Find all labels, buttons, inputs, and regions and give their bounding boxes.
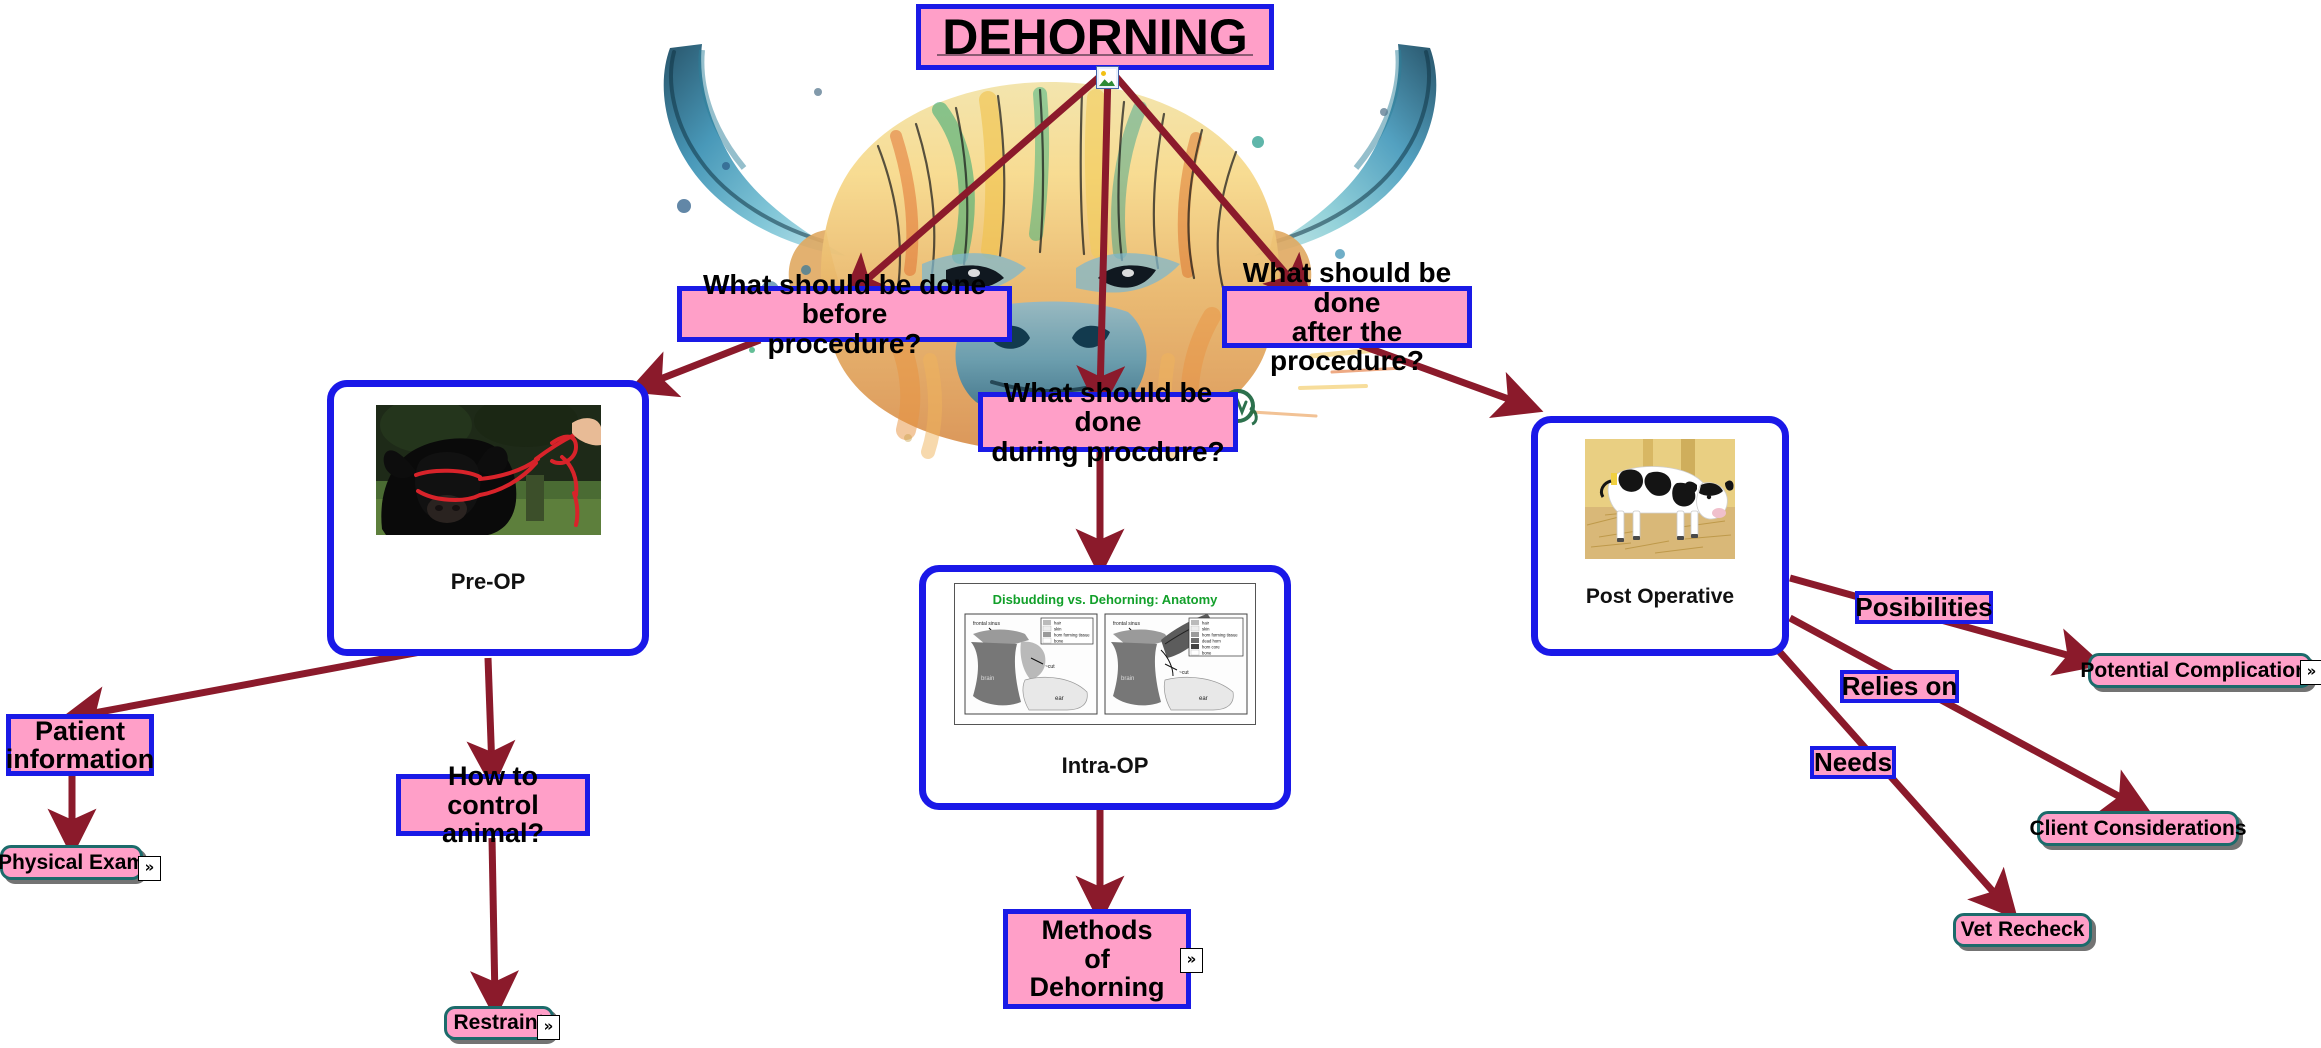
patient-information-node[interactable]: Patient information bbox=[6, 714, 154, 776]
pre-op-caption: Pre-OP bbox=[451, 569, 526, 595]
needs-label: Needs bbox=[1814, 747, 1892, 778]
svg-text:brain: brain bbox=[981, 676, 994, 682]
physical-exam-expand-chevron[interactable]: » bbox=[138, 856, 161, 881]
physical-exam-label: Physical Exam bbox=[0, 851, 145, 875]
how-to-control-animal-label: How to control animal? bbox=[401, 762, 585, 847]
svg-text:horn forming tissue: horn forming tissue bbox=[1202, 633, 1238, 638]
question-after-label: What should be done after the procedure? bbox=[1227, 258, 1467, 376]
anatomy-figure-title: Disbudding vs. Dehorning: Anatomy bbox=[993, 592, 1219, 607]
svg-text:skin: skin bbox=[1054, 627, 1062, 632]
methods-of-dehorning-node[interactable]: Methods of Dehorning bbox=[1003, 909, 1191, 1009]
svg-text:ear: ear bbox=[1199, 696, 1208, 702]
pre-op-card[interactable]: Pre-OP bbox=[327, 380, 649, 656]
potential-complications-expand-chevron[interactable]: » bbox=[2300, 660, 2321, 685]
question-during-node[interactable]: What should be done during procdure? bbox=[978, 392, 1238, 452]
question-after-node[interactable]: What should be done after the procedure? bbox=[1222, 286, 1472, 348]
svg-text:~cut: ~cut bbox=[1045, 664, 1055, 670]
image-attachment-icon[interactable] bbox=[1096, 66, 1119, 89]
svg-text:horn forming tissue: horn forming tissue bbox=[1054, 633, 1090, 638]
client-considerations-label: Client Considerations bbox=[2029, 817, 2246, 841]
posibilities-link-label[interactable]: Posibilities bbox=[1855, 591, 1993, 624]
restraint-expand-chevron[interactable]: » bbox=[537, 1015, 560, 1040]
svg-text:frontal sinus: frontal sinus bbox=[973, 621, 1000, 627]
svg-text:bone: bone bbox=[1202, 651, 1212, 656]
potential-complications-node[interactable]: Potential Complications bbox=[2088, 653, 2312, 688]
patient-information-label: Patient information bbox=[6, 717, 155, 774]
question-before-label: What should be done before procedure? bbox=[682, 270, 1007, 358]
svg-text:ear: ear bbox=[1055, 696, 1064, 702]
potential-complications-label: Potential Complications bbox=[2080, 659, 2319, 683]
vet-recheck-node[interactable]: Vet Recheck bbox=[1953, 913, 2092, 947]
relies-on-link-label[interactable]: Relies on bbox=[1840, 670, 1959, 703]
methods-of-dehorning-expand-chevron[interactable]: » bbox=[1180, 948, 1203, 973]
how-to-control-animal-node[interactable]: How to control animal? bbox=[396, 774, 590, 836]
intra-op-caption: Intra-OP bbox=[1062, 753, 1149, 779]
relies-on-label: Relies on bbox=[1842, 671, 1958, 702]
post-operative-caption: Post Operative bbox=[1586, 585, 1734, 609]
question-during-label: What should be done during procdure? bbox=[983, 378, 1233, 466]
black-calf-with-red-rope-halter-photo bbox=[376, 405, 601, 535]
question-before-node[interactable]: What should be done before procedure? bbox=[677, 286, 1012, 342]
needs-link-label[interactable]: Needs bbox=[1810, 746, 1896, 779]
restraint-label: Restraint bbox=[453, 1011, 544, 1035]
root-title-node[interactable]: DEHORNING bbox=[916, 4, 1274, 70]
physical-exam-node[interactable]: Physical Exam bbox=[0, 845, 143, 880]
disbudding-vs-dehorning-anatomy-diagram: Disbudding vs. Dehorning: Anatomy fronta… bbox=[954, 583, 1256, 725]
vet-recheck-label: Vet Recheck bbox=[1961, 918, 2085, 942]
svg-text:brain: brain bbox=[1121, 676, 1134, 682]
svg-text:dead horn: dead horn bbox=[1202, 639, 1222, 644]
title-underline bbox=[937, 54, 1253, 56]
svg-text:frontal sinus: frontal sinus bbox=[1113, 621, 1140, 627]
methods-of-dehorning-label: Methods of Dehorning bbox=[1030, 916, 1165, 1001]
svg-text:skin: skin bbox=[1202, 627, 1210, 632]
intra-op-card[interactable]: Disbudding vs. Dehorning: Anatomy fronta… bbox=[919, 565, 1291, 810]
svg-text:hair: hair bbox=[1054, 621, 1062, 626]
client-considerations-node[interactable]: Client Considerations bbox=[2037, 811, 2239, 846]
post-operative-card[interactable]: Post Operative bbox=[1531, 416, 1789, 656]
posibilities-label: Posibilities bbox=[1855, 592, 1992, 623]
svg-text:bone: bone bbox=[1054, 639, 1064, 644]
svg-text:hair: hair bbox=[1202, 621, 1210, 626]
svg-text:~cut: ~cut bbox=[1179, 670, 1189, 676]
concept-map-canvas: DEHORNING What should be done before pro… bbox=[0, 0, 2321, 1048]
svg-text:horn core: horn core bbox=[1202, 645, 1220, 650]
holstein-calf-on-straw-photo bbox=[1585, 439, 1735, 559]
